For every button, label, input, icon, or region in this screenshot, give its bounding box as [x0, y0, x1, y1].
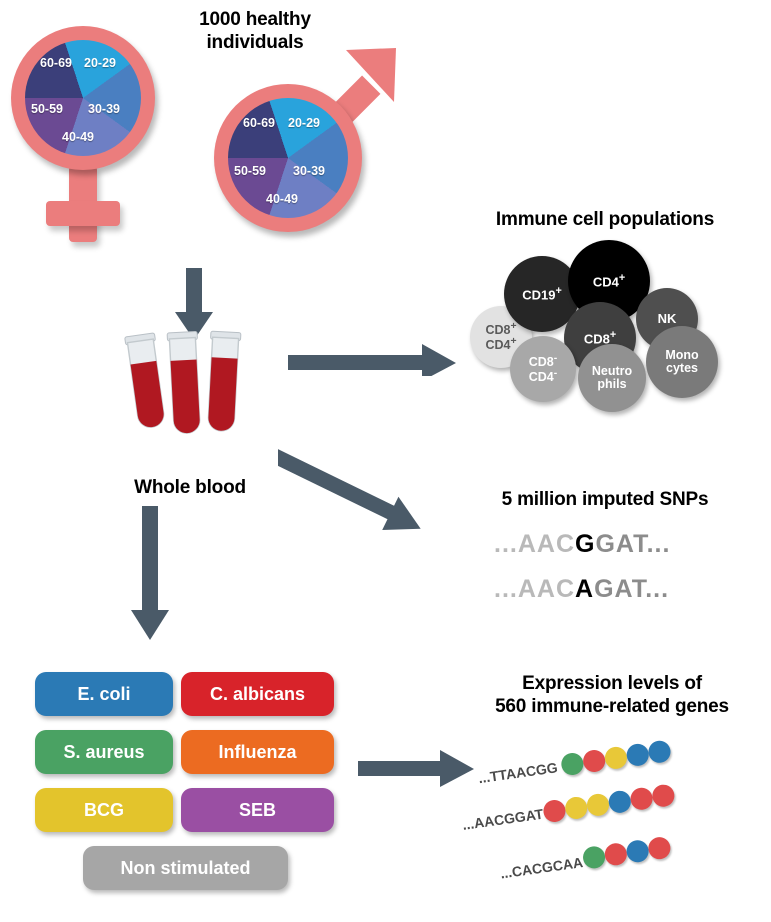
gene-bead: [582, 845, 607, 870]
snp-line1-prefix: ...AAC: [494, 530, 575, 558]
stimulus-box-seb[interactable]: SEB: [181, 788, 334, 832]
stimulus-box-s-aureus[interactable]: S. aureus: [35, 730, 173, 774]
stimulus-box-c-albicans[interactable]: C. albicans: [181, 672, 334, 716]
gene-bead: [647, 739, 672, 764]
gene-bead: [560, 752, 585, 777]
male-age-label-30-39: 30-39: [293, 164, 325, 178]
snp-sequence-line-1: ...AACGGAT...: [494, 530, 670, 559]
female-age-label-60-69: 60-69: [40, 56, 72, 70]
stimulus-label: Non stimulated: [120, 858, 250, 879]
female-age-label-20-29: 20-29: [84, 56, 116, 70]
immune-cell-neutrophils: Neutrophils: [578, 344, 646, 412]
expression-heading-line2: 560 immune-related genes: [462, 695, 762, 718]
female-age-label-30-39: 30-39: [88, 102, 120, 116]
stimulus-label: C. albicans: [210, 684, 305, 705]
snps-heading: 5 million imputed SNPs: [450, 488, 760, 511]
arrow-stimuli-to-expression: [358, 748, 478, 788]
stimulus-label: E. coli: [77, 684, 130, 705]
female-age-label-40-49: 40-49: [62, 130, 94, 144]
immune-cell-monocytes: Monocytes: [646, 326, 718, 398]
snp-line1-variant: G: [575, 530, 595, 558]
stimulus-label: SEB: [239, 800, 276, 821]
expression-heading: Expression levels of 560 immune-related …: [462, 672, 762, 718]
immune-cell-label: Monocytes: [665, 349, 698, 375]
arrow-blood-to-stimuli: [130, 506, 170, 642]
immune-cell-cd8-cd4-double-negative: CD8-CD4-: [510, 336, 576, 402]
female-age-label-50-59: 50-59: [31, 102, 63, 116]
female-gender-symbol: 20-29 30-39 40-49 50-59 60-69: [8, 18, 208, 248]
blood-tubes: [110, 328, 270, 448]
gene-bead: [625, 839, 650, 864]
male-age-label-40-49: 40-49: [266, 192, 298, 206]
gene-bead: [564, 796, 589, 821]
stimulus-box-e-coli[interactable]: E. coli: [35, 672, 173, 716]
gene-strand-1-sequence: ...TTAACGG: [477, 759, 558, 786]
expression-heading-line1: Expression levels of: [462, 672, 762, 695]
stimulus-label: Influenza: [218, 742, 296, 763]
gene-bead: [586, 792, 611, 817]
male-gender-symbol: 20-29 30-39 40-49 50-59 60-69: [196, 40, 426, 260]
arrow-blood-to-snps: [278, 438, 468, 548]
male-age-label-60-69: 60-69: [243, 116, 275, 130]
snp-line2-suffix: GAT...: [594, 575, 669, 603]
snp-line2-variant: A: [575, 575, 594, 603]
gene-bead: [607, 789, 632, 814]
immune-cell-label: CD8-CD4-: [529, 354, 557, 385]
immune-cell-label: CD4+: [593, 273, 625, 289]
female-symbol-stem-horizontal: [46, 201, 120, 226]
stimulus-box-influenza[interactable]: Influenza: [181, 730, 334, 774]
gene-bead: [647, 836, 672, 861]
immune-cell-label: NK: [658, 312, 677, 326]
stimulus-box-bcg[interactable]: BCG: [35, 788, 173, 832]
immune-cell-label: Neutrophils: [592, 365, 632, 391]
gene-strand-3-sequence: ...CACGCAA: [499, 854, 584, 881]
immune-heading: Immune cell populations: [455, 208, 755, 231]
immune-cell-label: CD19+: [522, 286, 562, 302]
immune-cell-label: CD8+CD4+: [485, 322, 516, 353]
immune-cell-cluster: CD8+CD4+ CD19+ CD4+ CD8+ NK CD8-CD4- Neu…: [468, 240, 758, 410]
gene-bead: [629, 786, 654, 811]
gene-bead: [603, 842, 628, 867]
stimulus-box-non-stimulated[interactable]: Non stimulated: [83, 846, 288, 890]
snp-sequence-line-2: ...AACAGAT...: [494, 575, 669, 604]
gene-bead: [604, 745, 629, 770]
gene-bead: [542, 799, 567, 824]
gene-strand-2-sequence: ...AACGGAT: [461, 806, 544, 833]
gene-bead: [582, 749, 607, 774]
snp-line1-suffix: GAT...: [595, 530, 670, 558]
stimulus-label: S. aureus: [63, 742, 144, 763]
arrow-blood-to-immune: [288, 336, 458, 376]
gene-bead: [651, 783, 676, 808]
male-age-label-20-29: 20-29: [288, 116, 320, 130]
gene-bead: [625, 742, 650, 767]
snp-line2-prefix: ...AAC: [494, 575, 575, 603]
stimulus-label: BCG: [84, 800, 124, 821]
male-age-label-50-59: 50-59: [234, 164, 266, 178]
whole-blood-label: Whole blood: [90, 476, 290, 499]
